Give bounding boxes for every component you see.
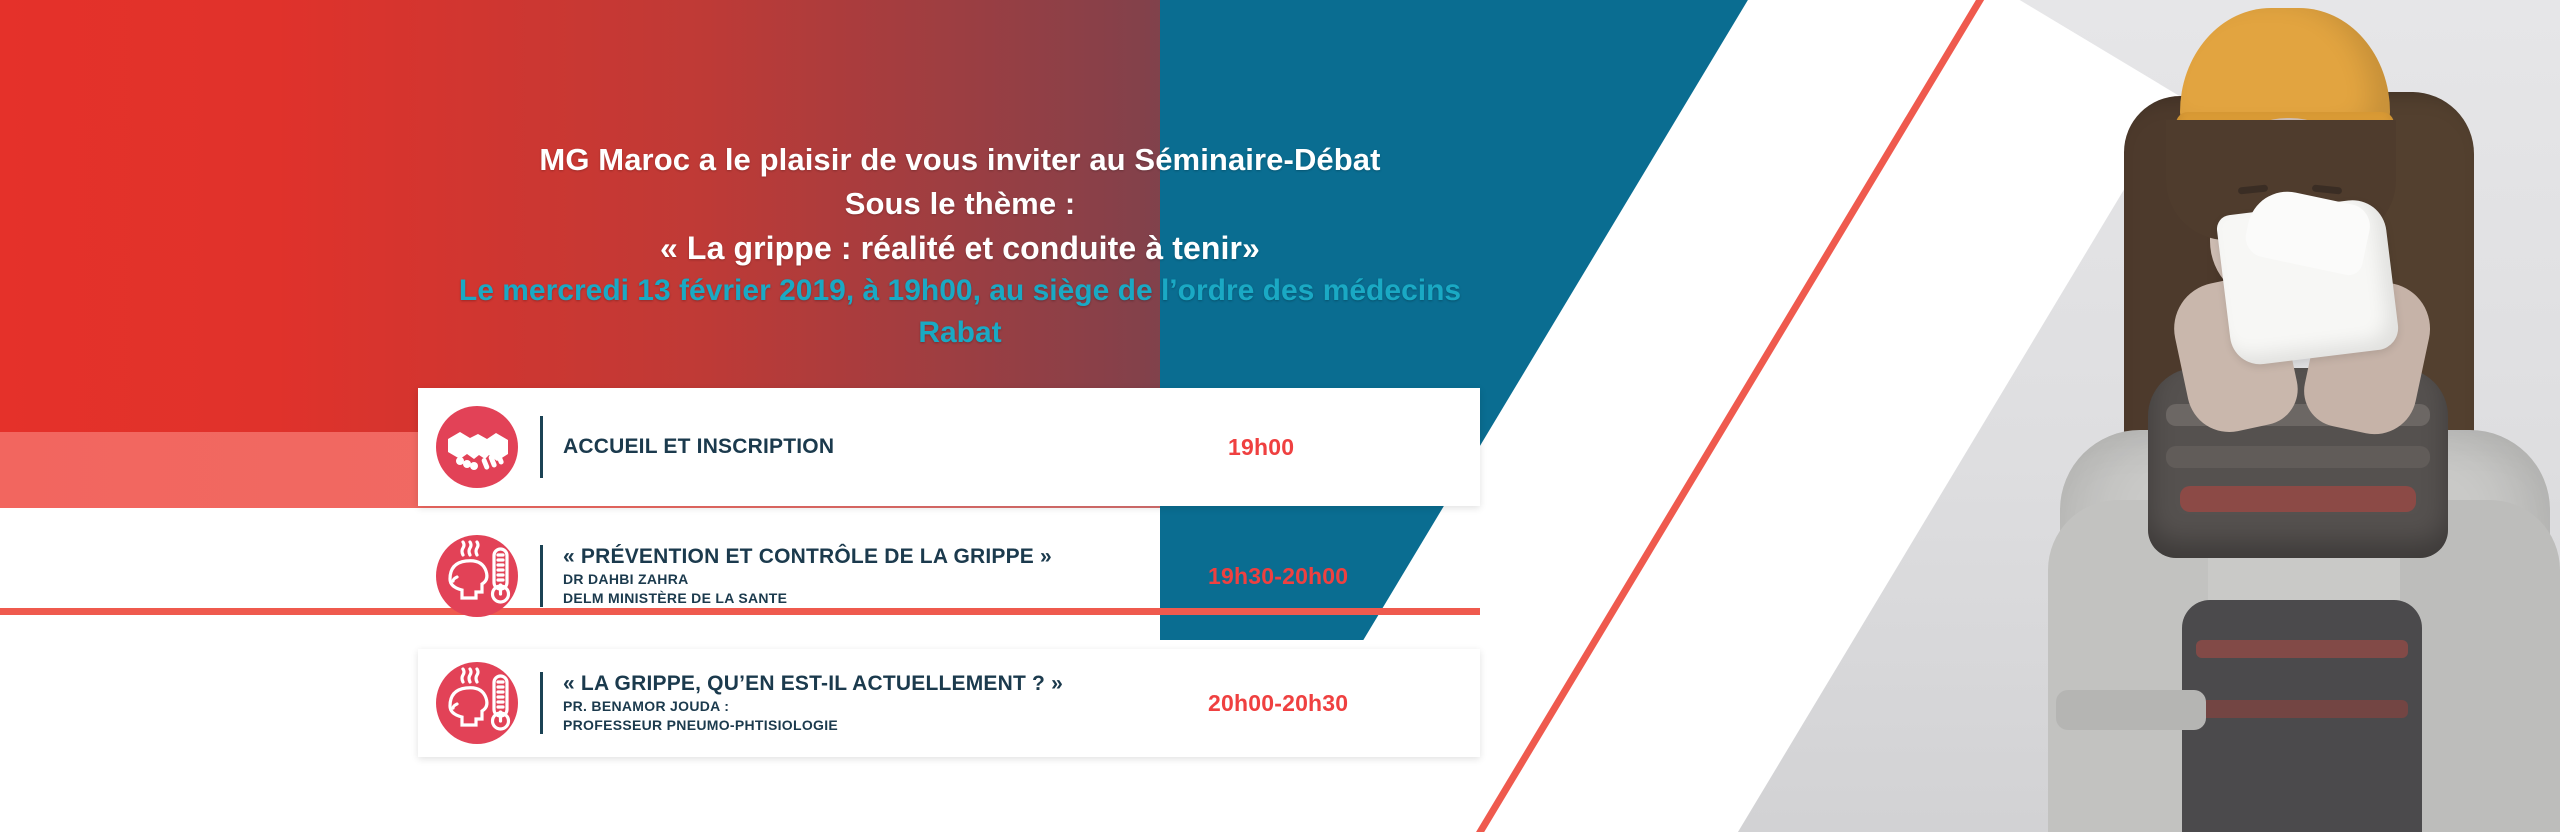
program-title: ACCUEIL ET INSCRIPTION: [563, 434, 1162, 460]
handshake-icon: [436, 406, 518, 488]
program-speaker: DR DAHBI ZAHRA: [563, 570, 1162, 589]
fever-head-thermometer-icon: [436, 662, 518, 744]
fever-head-thermometer-icon: [436, 535, 518, 617]
program-affiliation: PROFESSEUR PNEUMO-PHTISIOLOGIE: [563, 716, 1162, 735]
headline-line-2: Sous le thème :: [400, 182, 1520, 226]
banner-stage: MG Maroc a le plaisir de vous inviter au…: [0, 0, 2560, 832]
seminar-theme: « La grippe : réalité et conduite à teni…: [400, 226, 1520, 270]
program-item[interactable]: ACCUEIL ET INSCRIPTION 19h00: [418, 388, 1480, 506]
program-time: 19h30-20h00: [1162, 563, 1462, 590]
event-date-venue: Le mercredi 13 février 2019, à 19h00, au…: [400, 270, 1520, 312]
event-city: Rabat: [400, 312, 1520, 354]
woman-with-tissue-photo: [1880, 0, 2560, 832]
program-list: ACCUEIL ET INSCRIPTION 19h00: [418, 388, 1480, 757]
program-item[interactable]: « LA GRIPPE, QU’EN EST-IL ACTUELLEMENT ?…: [418, 649, 1480, 757]
headline-line-1: MG Maroc a le plaisir de vous inviter au…: [400, 138, 1520, 182]
program-speaker: PR. BENAMOR JOUDA :: [563, 697, 1162, 716]
headline-block: MG Maroc a le plaisir de vous inviter au…: [400, 138, 1520, 354]
card-divider: [540, 545, 543, 607]
program-item[interactable]: « PRÉVENTION ET CONTRÔLE DE LA GRIPPE » …: [418, 523, 1480, 629]
program-time: 19h00: [1162, 434, 1462, 461]
card-divider: [540, 416, 543, 478]
card-divider: [540, 672, 543, 734]
program-title: « PRÉVENTION ET CONTRÔLE DE LA GRIPPE »: [563, 544, 1162, 570]
program-title: « LA GRIPPE, QU’EN EST-IL ACTUELLEMENT ?…: [563, 671, 1162, 697]
program-affiliation: DELM MINISTÈRE DE LA SANTE: [563, 589, 1162, 608]
program-time: 20h00-20h30: [1162, 690, 1462, 717]
